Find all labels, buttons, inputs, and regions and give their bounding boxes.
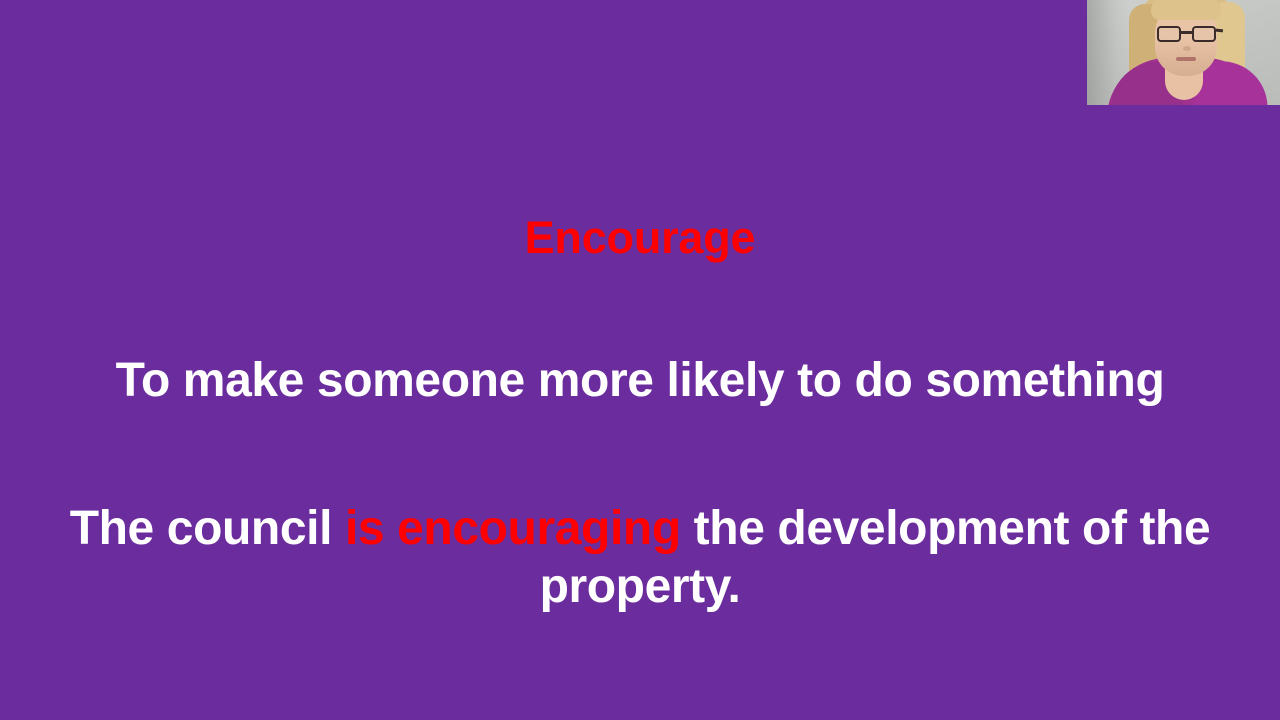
presenter-fringe	[1151, 0, 1221, 20]
presenter-nose	[1183, 46, 1191, 51]
slide-content: Encourage To make someone more likely to…	[0, 0, 1280, 720]
presentation-slide: Encourage To make someone more likely to…	[0, 0, 1280, 720]
glasses-left-lens-icon	[1157, 26, 1181, 42]
presenter-webcam-overlay[interactable]	[1087, 0, 1280, 105]
example-sentence: The council is encouraging the developme…	[60, 500, 1220, 616]
example-text-before: The council	[70, 502, 345, 555]
glasses-bridge-icon	[1181, 31, 1192, 34]
presenter-mouth	[1176, 57, 1196, 61]
slide-title: Encourage	[0, 215, 1280, 260]
example-highlighted-phrase: is encouraging	[345, 502, 681, 555]
definition-text: To make someone more likely to do someth…	[60, 357, 1220, 405]
glasses-right-lens-icon	[1192, 26, 1216, 42]
